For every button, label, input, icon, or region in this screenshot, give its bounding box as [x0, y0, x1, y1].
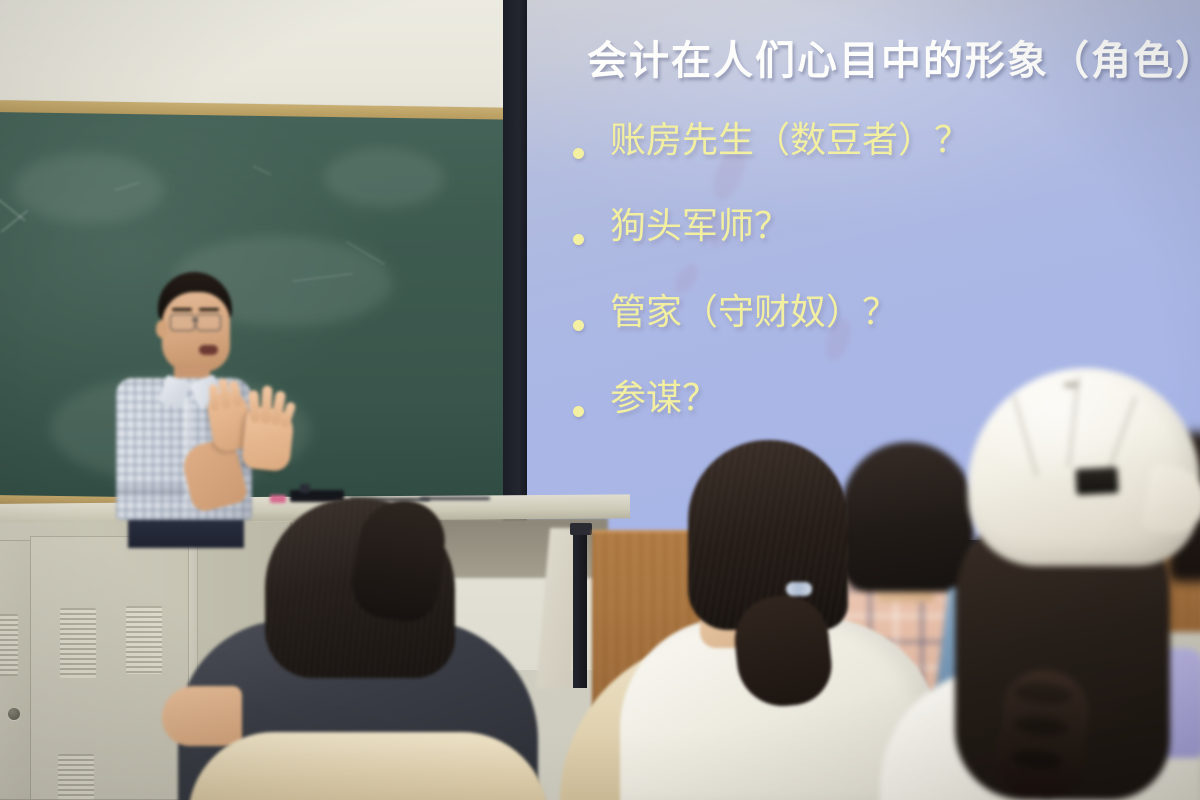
slide-bullet-item: 管家（守财奴）？ — [573, 294, 1193, 380]
slide-bullet-text: 账房先生（数豆者）？ — [610, 122, 970, 161]
instructor-face — [162, 292, 230, 372]
bullet-dot-icon — [573, 320, 584, 331]
projection-screen-left-edge — [503, 0, 529, 554]
slide-bullet-text: 参谋？ — [610, 380, 718, 419]
instructor-eyebrow — [199, 308, 219, 311]
screen-post-cap — [570, 523, 592, 535]
instructor-hand-right — [241, 406, 295, 473]
instructor-mouth — [199, 345, 218, 355]
bullet-dot-icon — [573, 148, 584, 159]
locker-door[interactable] — [30, 536, 190, 800]
instructor — [100, 270, 330, 520]
slide-bullet-text: 管家（守财奴）？ — [610, 294, 898, 333]
cap-brim — [1141, 463, 1200, 538]
slide-bullet-item: 账房先生（数豆者）？ — [573, 122, 1193, 208]
bullet-dot-icon — [573, 234, 584, 245]
locker-vent — [58, 754, 94, 800]
bullet-dot-icon — [573, 406, 584, 417]
instructor-sleeve — [116, 485, 186, 497]
glasses-bridge — [192, 319, 198, 321]
locker-lock-knob[interactable] — [8, 708, 20, 720]
student-plaid-hair — [842, 442, 974, 592]
hair-tie — [786, 582, 812, 596]
tray-cable — [420, 497, 490, 500]
instructor-eyebrow — [172, 308, 192, 311]
glasses-icon — [170, 314, 195, 331]
slide-title: 会计在人们心目中的形象（角色） — [587, 28, 1200, 86]
slide-bullet-item: 狗头军师？ — [573, 208, 1193, 294]
instructor-ear — [156, 320, 168, 338]
locker-vent — [126, 606, 162, 674]
cap-adjuster-strap — [1075, 467, 1118, 495]
glasses-icon — [196, 314, 221, 331]
student-dark-arm — [162, 686, 242, 746]
locker-vent — [60, 608, 96, 678]
chair-back — [188, 732, 548, 800]
screen-support-post — [573, 528, 587, 688]
locker-vent — [0, 614, 18, 676]
slide-bullet-text: 狗头军师？ — [610, 208, 790, 247]
classroom-photo: 会计在人们心目中的形象（角色） 账房先生（数豆者）？ 狗头军师？ 管家（守财奴）… — [0, 0, 1200, 800]
